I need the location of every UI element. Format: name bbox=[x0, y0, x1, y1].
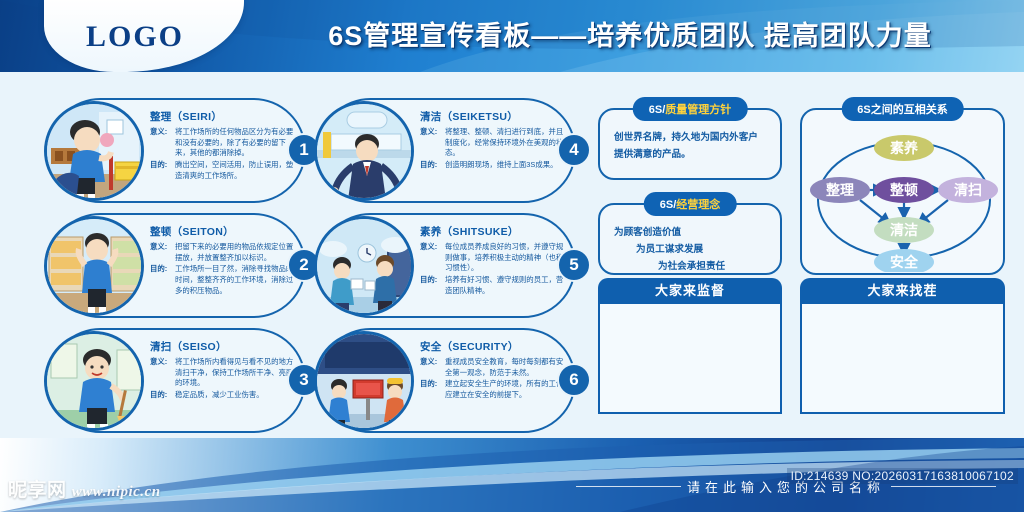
security-purpose-text: 建立起安全生产的环境，所有的工作应建立在安全的前提下。 bbox=[445, 379, 570, 400]
quality-policy-line2: 提供满意的产品。 bbox=[614, 147, 766, 164]
philosophy-line1: 为顾客创造价值 bbox=[614, 225, 766, 242]
seiketsu-purpose-text: 创造明朗现场，维持上面3S成果。 bbox=[445, 160, 570, 171]
id-stamp: ID:214639 NO:20260317163810067102 bbox=[787, 468, 1018, 484]
supervise-box-title: 大家来监督 bbox=[598, 278, 782, 304]
site-watermark: 昵享网 www.nipic.cn bbox=[8, 475, 161, 502]
security-title: 安全（SECURITY） bbox=[420, 339, 570, 354]
security-purpose: 目的: 建立起安全生产的环境，所有的工作应建立在安全的前提下。 bbox=[420, 379, 570, 400]
relation-node-shitsuke: 素养 bbox=[890, 140, 919, 156]
shitsuke-number-badge: 5 bbox=[557, 248, 591, 282]
quality-policy-text: 创世界名牌，持久地为国内外客户 提供满意的产品。 bbox=[614, 130, 766, 164]
card-seiketsu: 清洁（SEIKETSU） 意义: 将整理、整顿、清扫进行到底，并且制度化，经常保… bbox=[318, 98, 576, 203]
relation-node-seiso: 清扫 bbox=[954, 182, 982, 198]
header-banner: LOGO 6S管理宣传看板——培养优质团队 提高团队力量 bbox=[0, 0, 1024, 72]
relation-diagram-panel: 6S之间的互相关系 素养 整理 整顿 bbox=[800, 108, 1005, 275]
seiketsu-body: 清洁（SEIKETSU） 意义: 将整理、整顿、清扫进行到底，并且制度化，经常保… bbox=[420, 109, 570, 172]
seiso-purpose-label: 目的: bbox=[150, 390, 175, 401]
seiso-meaning-text: 将工作场所内看得见与看不见的地方清扫干净，保持工作场所干净、亮丽的环境。 bbox=[175, 357, 300, 389]
signage-board: LOGO 6S管理宣传看板——培养优质团队 提高团队力量 bbox=[0, 0, 1024, 512]
seiketsu-purpose-label: 目的: bbox=[420, 160, 445, 171]
card-seiso: 清扫（SEISO） 意义: 将工作场所内看得见与看不见的地方清扫干净，保持工作场… bbox=[48, 328, 306, 433]
philosophy-panel: 6S/经营理念 为顾客创造价值 为员工谋求发展 为社会承担责任 bbox=[598, 203, 782, 275]
seiketsu-meaning: 意义: 将整理、整顿、清扫进行到底，并且制度化，经常保持环境外在美观的状态。 bbox=[420, 127, 570, 159]
philosophy-tag-main: 经营理念 bbox=[676, 199, 720, 211]
supervise-box: 大家来监督 bbox=[598, 278, 782, 414]
philosophy-text: 为顾客创造价值 为员工谋求发展 为社会承担责任 bbox=[614, 225, 766, 275]
seiri-meaning: 意义: 将工作场所的任何物品区分为有必要和没有必要的，除了有必要的留下来，其他的… bbox=[150, 127, 300, 159]
seiton-illustration bbox=[44, 216, 144, 316]
relation-node-seiri: 整理 bbox=[825, 182, 854, 198]
philosophy-tag: 6S/经营理念 bbox=[644, 192, 737, 216]
company-rule-left bbox=[576, 486, 681, 487]
shitsuke-body: 素养（SHITSUKE） 意义: 每位成员养成良好的习惯，并遵守规则做事，培养积… bbox=[420, 224, 570, 298]
shitsuke-purpose: 目的: 培养有好习惯、遵守规则的员工，营造团队精神。 bbox=[420, 275, 570, 296]
seiton-title: 整顿（SEITON） bbox=[150, 224, 300, 239]
seiri-illustration bbox=[44, 101, 144, 201]
relation-node-security: 安全 bbox=[890, 254, 919, 270]
seiri-title: 整理（SEIRI） bbox=[150, 109, 300, 124]
seiton-purpose-text: 工作场所一目了然，消除寻找物品的时间，整整齐齐的工作环境，消除过多的积压物品。 bbox=[175, 264, 300, 296]
card-security: 安全（SECURITY） 意义: 重视成员安全教育，每时每刻都有安全第一观念，防… bbox=[318, 328, 576, 433]
page-title: 6S管理宣传看板——培养优质团队 提高团队力量 bbox=[250, 14, 1010, 58]
philosophy-tag-prefix: 6S/ bbox=[660, 199, 677, 211]
seiketsu-title: 清洁（SEIKETSU） bbox=[420, 109, 570, 124]
security-meaning-label: 意义: bbox=[420, 357, 445, 378]
relation-diagram-tag: 6S之间的互相关系 bbox=[841, 97, 963, 121]
quality-policy-tag: 6S/质量管理方针 bbox=[633, 97, 748, 121]
seiri-meaning-label: 意义: bbox=[150, 127, 175, 159]
watermark-cn: 昵享网 bbox=[8, 480, 67, 501]
seiso-purpose: 目的: 稳定品质，减少工业伤害。 bbox=[150, 390, 300, 401]
relation-node-seiketsu: 清洁 bbox=[890, 222, 918, 238]
seiton-meaning-label: 意义: bbox=[150, 242, 175, 263]
seiso-title: 清扫（SEISO） bbox=[150, 339, 300, 354]
seiton-meaning: 意义: 把留下来的必要用的物品依规定位置摆放，并放置整齐加以标识。 bbox=[150, 242, 300, 263]
security-body: 安全（SECURITY） 意义: 重视成员安全教育，每时每刻都有安全第一观念，防… bbox=[420, 339, 570, 402]
seiton-body: 整顿（SEITON） 意义: 把留下来的必要用的物品依规定位置摆放，并放置整齐加… bbox=[150, 224, 300, 298]
faultfind-box-title: 大家来找茬 bbox=[800, 278, 1005, 304]
shitsuke-meaning-text: 每位成员养成良好的习惯，并遵守规则做事，培养积极主动的精神（也称习惯性）。 bbox=[445, 242, 570, 274]
relation-diagram: 素养 整理 整顿 清扫 清洁 安全 bbox=[806, 122, 1002, 272]
company-rule-right bbox=[891, 486, 996, 487]
seiri-purpose-text: 腾出空间，空间活用，防止误用，塑造清爽的工作场所。 bbox=[175, 160, 300, 181]
logo-text: LOGO bbox=[60, 20, 210, 54]
seiton-purpose-label: 目的: bbox=[150, 264, 175, 296]
supervise-box-content[interactable] bbox=[598, 304, 782, 414]
shitsuke-meaning: 意义: 每位成员养成良好的习惯，并遵守规则做事，培养积极主动的精神（也称习惯性）… bbox=[420, 242, 570, 274]
relation-node-seiton: 整顿 bbox=[889, 182, 918, 198]
shitsuke-purpose-text: 培养有好习惯、遵守规则的员工，营造团队精神。 bbox=[445, 275, 570, 296]
seiton-meaning-text: 把留下来的必要用的物品依规定位置摆放，并放置整齐加以标识。 bbox=[175, 242, 300, 263]
seiso-illustration bbox=[44, 331, 144, 431]
security-meaning: 意义: 重视成员安全教育，每时每刻都有安全第一观念，防范于未然。 bbox=[420, 357, 570, 378]
card-seiri: 整理（SEIRI） 意义: 将工作场所的任何物品区分为有必要和没有必要的，除了有… bbox=[48, 98, 306, 203]
card-shitsuke: 素养（SHITSUKE） 意义: 每位成员养成良好的习惯，并遵守规则做事，培养积… bbox=[318, 213, 576, 318]
watermark-url: www.nipic.cn bbox=[72, 484, 161, 500]
seiketsu-illustration bbox=[314, 101, 414, 201]
philosophy-line3: 为社会承担责任 bbox=[614, 259, 766, 276]
security-illustration bbox=[314, 331, 414, 431]
quality-policy-tag-main: 质量管理方针 bbox=[665, 104, 731, 116]
shitsuke-meaning-label: 意义: bbox=[420, 242, 445, 274]
seiri-meaning-text: 将工作场所的任何物品区分为有必要和没有必要的，除了有必要的留下来，其他的都消除掉… bbox=[175, 127, 300, 159]
security-meaning-text: 重视成员安全教育，每时每刻都有安全第一观念，防范于未然。 bbox=[445, 357, 570, 378]
seiton-purpose: 目的: 工作场所一目了然，消除寻找物品的时间，整整齐齐的工作环境，消除过多的积压… bbox=[150, 264, 300, 296]
faultfind-box-content[interactable] bbox=[800, 304, 1005, 414]
shitsuke-illustration bbox=[314, 216, 414, 316]
security-number-badge: 6 bbox=[557, 363, 591, 397]
philosophy-line2: 为员工谋求发展 bbox=[614, 242, 766, 259]
footer-banner: 昵享网 www.nipic.cn 请在此输入您的公司名称 ID:214639 N… bbox=[0, 438, 1024, 512]
seiketsu-meaning-text: 将整理、整顿、清扫进行到底，并且制度化，经常保持环境外在美观的状态。 bbox=[445, 127, 570, 159]
card-seiton: 整顿（SEITON） 意义: 把留下来的必要用的物品依规定位置摆放，并放置整齐加… bbox=[48, 213, 306, 318]
seiso-purpose-text: 稳定品质，减少工业伤害。 bbox=[175, 390, 300, 401]
seiri-purpose: 目的: 腾出空间，空间活用，防止误用，塑造清爽的工作场所。 bbox=[150, 160, 300, 181]
seiri-purpose-label: 目的: bbox=[150, 160, 175, 181]
shitsuke-purpose-label: 目的: bbox=[420, 275, 445, 296]
quality-policy-tag-prefix: 6S/ bbox=[649, 104, 666, 116]
seiso-body: 清扫（SEISO） 意义: 将工作场所内看得见与看不见的地方清扫干净，保持工作场… bbox=[150, 339, 300, 402]
seiso-meaning-label: 意义: bbox=[150, 357, 175, 389]
faultfind-box: 大家来找茬 bbox=[800, 278, 1005, 414]
quality-policy-panel: 6S/质量管理方针 创世界名牌，持久地为国内外客户 提供满意的产品。 bbox=[598, 108, 782, 180]
shitsuke-title: 素养（SHITSUKE） bbox=[420, 224, 570, 239]
seiso-meaning: 意义: 将工作场所内看得见与看不见的地方清扫干净，保持工作场所干净、亮丽的环境。 bbox=[150, 357, 300, 389]
seiri-body: 整理（SEIRI） 意义: 将工作场所的任何物品区分为有必要和没有必要的，除了有… bbox=[150, 109, 300, 183]
seiketsu-purpose: 目的: 创造明朗现场，维持上面3S成果。 bbox=[420, 160, 570, 171]
security-purpose-label: 目的: bbox=[420, 379, 445, 400]
seiketsu-meaning-label: 意义: bbox=[420, 127, 445, 159]
quality-policy-line1: 创世界名牌，持久地为国内外客户 bbox=[614, 130, 766, 147]
seiketsu-number-badge: 4 bbox=[557, 133, 591, 167]
